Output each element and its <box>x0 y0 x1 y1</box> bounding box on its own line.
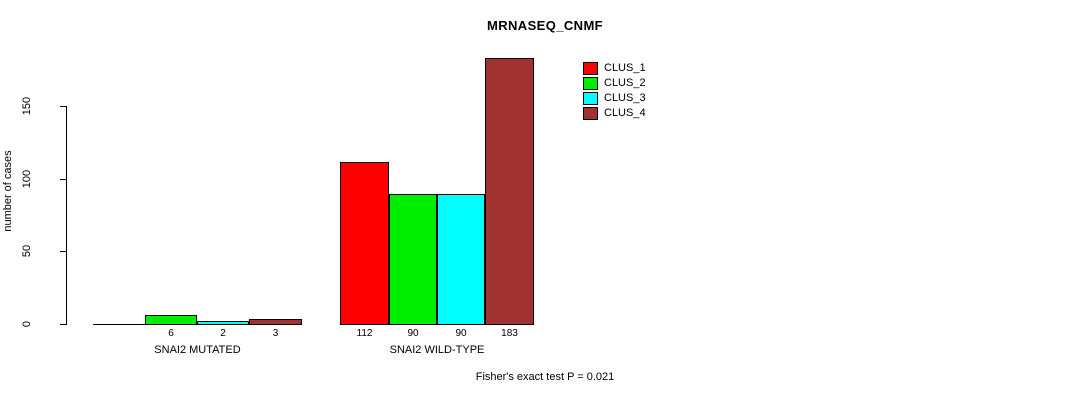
legend-label-clus-1: CLUS_1 <box>604 62 646 75</box>
legend-label-clus-4: CLUS_4 <box>604 107 646 120</box>
bar-group1-clus4[interactable] <box>249 319 302 325</box>
fisher-test-annotation: Fisher's exact test P = 0.021 <box>0 371 1090 383</box>
bar-group2-clus2[interactable] <box>389 194 437 325</box>
legend-swatch-clus-2-icon <box>583 77 598 90</box>
chart-title: MRNASEQ_CNMF <box>0 18 1090 33</box>
y-tick-label-50: 50 <box>21 224 33 278</box>
legend-label-clus-2: CLUS_2 <box>604 77 646 90</box>
legend-swatch-clus-1-icon <box>583 62 598 75</box>
y-tick-label-0: 0 <box>21 297 33 351</box>
bar-value-group1-clus3: 2 <box>197 328 249 339</box>
bar-group1-clus3[interactable] <box>197 321 249 325</box>
bar-value-group1-clus4: 3 <box>249 328 302 339</box>
bar-value-group1-clus2: 6 <box>145 328 197 339</box>
legend-item-clus-3[interactable]: CLUS_3 <box>583 91 646 106</box>
bar-value-group2-clus1: 112 <box>340 328 389 339</box>
legend-swatch-clus-4-icon <box>583 107 598 120</box>
group-label-snai2-wild-type: SNAI2 WILD-TYPE <box>340 344 534 356</box>
y-tick-mark-150 <box>60 106 67 107</box>
group-label-snai2-mutated: SNAI2 MUTATED <box>93 344 302 356</box>
legend-item-clus-1[interactable]: CLUS_1 <box>583 61 646 76</box>
bar-group1-clus2[interactable] <box>145 315 197 325</box>
chart-plot-area: MRNASEQ_CNMF number of cases 0 50 100 15… <box>0 0 1090 400</box>
legend-item-clus-4[interactable]: CLUS_4 <box>583 106 646 121</box>
bar-group1-clus1[interactable] <box>93 324 145 325</box>
legend-label-clus-3: CLUS_3 <box>604 92 646 105</box>
bar-value-group2-clus4: 183 <box>485 328 534 339</box>
bar-value-group2-clus2: 90 <box>389 328 437 339</box>
y-axis-line <box>66 106 67 325</box>
y-axis-title: number of cases <box>2 131 14 251</box>
legend-item-clus-2[interactable]: CLUS_2 <box>583 76 646 91</box>
y-tick-mark-50 <box>60 251 67 252</box>
bar-group2-clus1[interactable] <box>340 162 389 325</box>
bar-group2-clus4[interactable] <box>485 58 534 325</box>
y-tick-label-150: 150 <box>21 79 33 133</box>
bar-group2-clus3[interactable] <box>437 194 485 325</box>
y-tick-label-100: 100 <box>21 152 33 206</box>
chart-legend: CLUS_1 CLUS_2 CLUS_3 CLUS_4 <box>583 61 646 121</box>
y-tick-mark-100 <box>60 179 67 180</box>
legend-swatch-clus-3-icon <box>583 92 598 105</box>
bar-value-group2-clus3: 90 <box>437 328 485 339</box>
y-tick-mark-0 <box>60 324 67 325</box>
